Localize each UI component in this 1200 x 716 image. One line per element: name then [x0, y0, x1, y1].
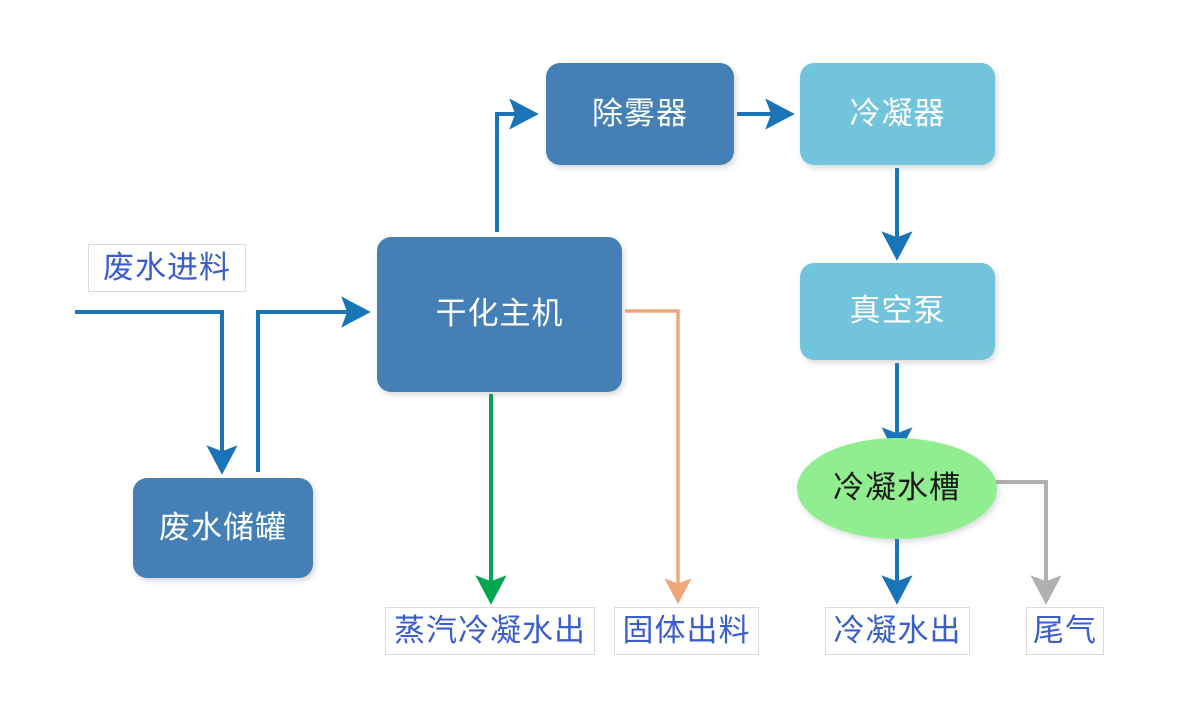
edge-tank-to-dryer: [258, 312, 366, 472]
node-feed_label[interactable]: 废水进料: [88, 244, 246, 292]
flowchart-canvas: 废水进料废水储罐干化主机除雾器冷凝器真空泵冷凝水槽蒸汽冷凝水出固体出料冷凝水出尾…: [0, 0, 1200, 716]
edge-feed-to-tank: [75, 312, 222, 470]
node-condensate_out-label: 冷凝水出: [834, 614, 962, 648]
node-condensate_tank[interactable]: 冷凝水槽: [797, 438, 997, 539]
edge-dryer-to-solid-out: [625, 311, 678, 600]
node-steam_condensate_out-label: 蒸汽冷凝水出: [394, 614, 586, 648]
node-storage_tank[interactable]: 废水储罐: [133, 478, 313, 578]
node-feed_label-label: 废水进料: [103, 251, 231, 285]
node-condensate_tank-label: 冷凝水槽: [833, 471, 961, 505]
node-steam_condensate_out[interactable]: 蒸汽冷凝水出: [385, 607, 595, 655]
node-tail_gas[interactable]: 尾气: [1026, 607, 1104, 655]
node-demister[interactable]: 除雾器: [546, 63, 734, 165]
node-storage_tank-label: 废水储罐: [159, 511, 287, 545]
node-solid_discharge-label: 固体出料: [623, 614, 751, 648]
node-condenser[interactable]: 冷凝器: [800, 63, 995, 165]
node-tail_gas-label: 尾气: [1033, 614, 1097, 648]
node-dryer_main[interactable]: 干化主机: [377, 237, 622, 392]
edge-tank-to-tail-gas: [996, 482, 1046, 600]
node-condensate_out[interactable]: 冷凝水出: [825, 607, 970, 655]
node-vacuum_pump-label: 真空泵: [850, 294, 946, 328]
node-dryer_main-label: 干化主机: [436, 297, 564, 331]
node-demister-label: 除雾器: [592, 97, 688, 131]
edge-dryer-to-demister: [497, 114, 534, 232]
node-solid_discharge[interactable]: 固体出料: [614, 607, 759, 655]
node-vacuum_pump[interactable]: 真空泵: [800, 263, 995, 360]
node-condenser-label: 冷凝器: [850, 97, 946, 131]
